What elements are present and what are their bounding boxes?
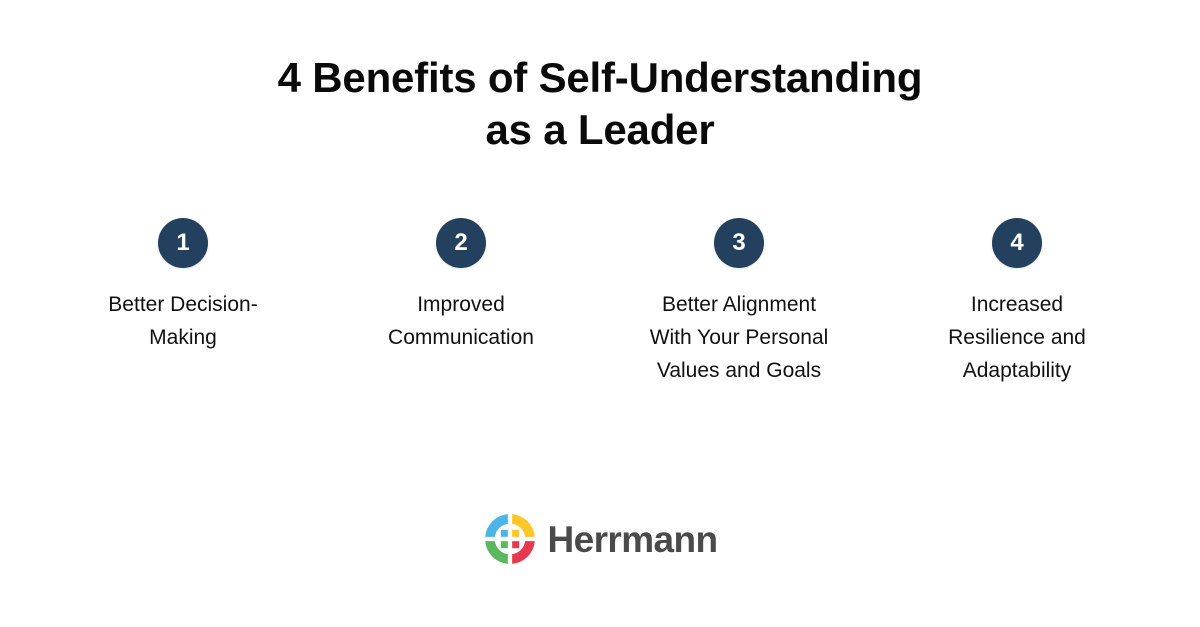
benefit-label-1: Better Decision- Making <box>108 288 257 354</box>
benefit-item-2: 2 Improved Communication <box>322 218 600 354</box>
benefit-item-1: 1 Better Decision- Making <box>44 218 322 354</box>
brand-logo: Herrmann <box>0 512 1200 566</box>
page-title: 4 Benefits of Self-Understanding as a Le… <box>250 52 950 156</box>
benefit-label-4: Increased Resilience and Adaptability <box>948 288 1086 387</box>
benefit-label-3: Better Alignment With Your Personal Valu… <box>650 288 829 387</box>
benefit-item-3: 3 Better Alignment With Your Personal Va… <box>600 218 878 387</box>
infographic-slide: 4 Benefits of Self-Understanding as a Le… <box>0 0 1200 627</box>
benefit-number-badge-1: 1 <box>158 218 208 268</box>
benefit-label-2: Improved Communication <box>388 288 534 354</box>
benefit-number-badge-2: 2 <box>436 218 486 268</box>
benefit-number-badge-3: 3 <box>714 218 764 268</box>
brand-wordmark: Herrmann <box>548 521 718 558</box>
benefit-item-4: 4 Increased Resilience and Adaptability <box>878 218 1156 387</box>
benefit-number-badge-4: 4 <box>992 218 1042 268</box>
herrmann-quadrant-logo-icon <box>483 512 537 566</box>
benefits-row: 1 Better Decision- Making 2 Improved Com… <box>0 218 1200 387</box>
title-block: 4 Benefits of Self-Understanding as a Le… <box>250 52 950 156</box>
